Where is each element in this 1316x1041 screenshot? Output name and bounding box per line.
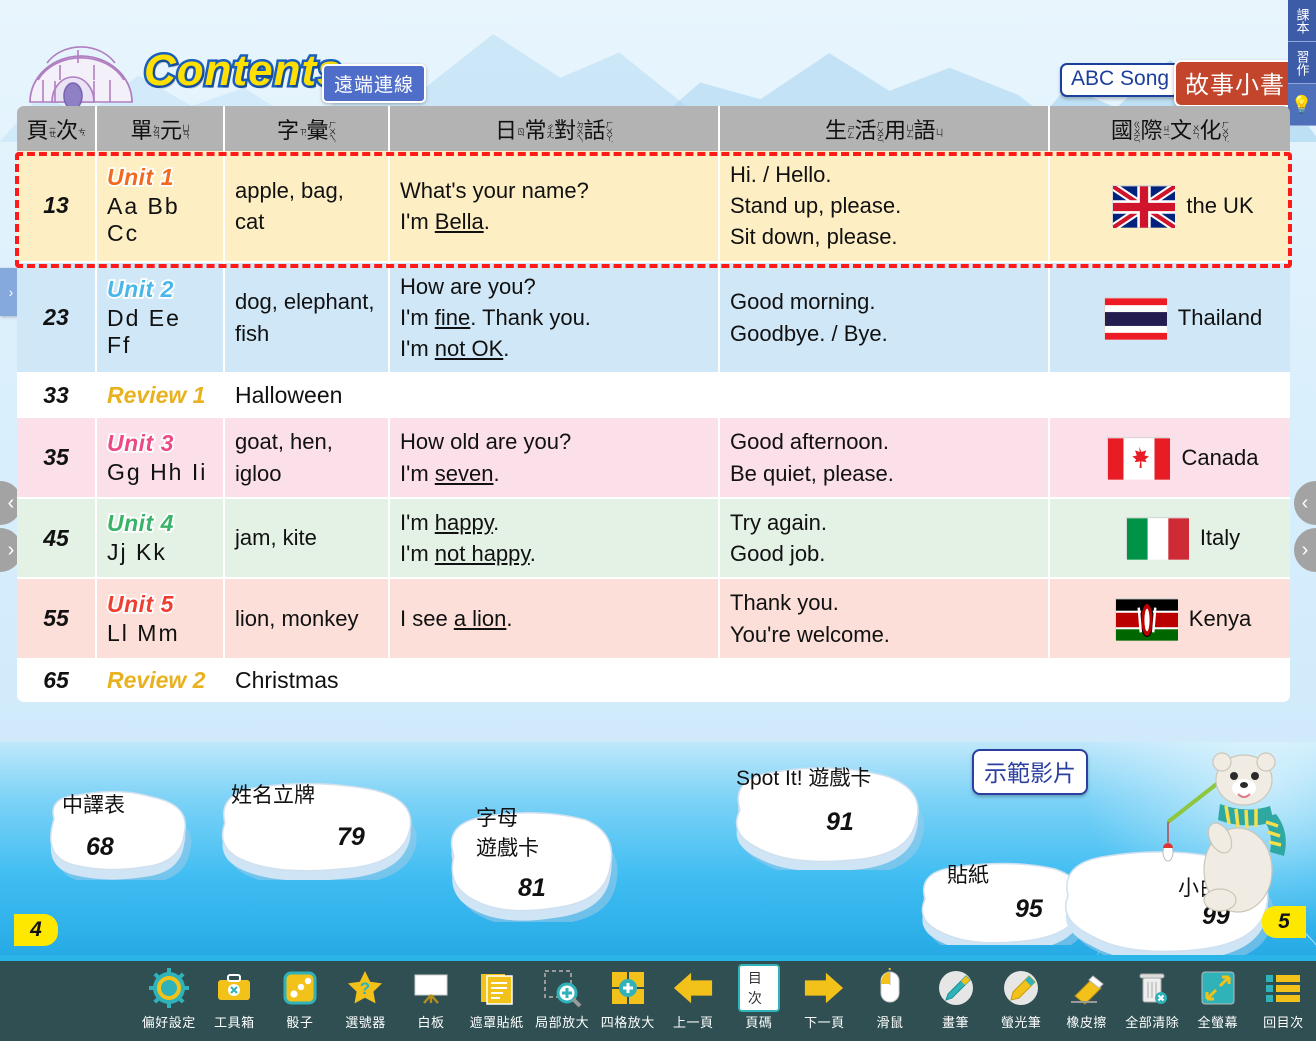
row-dialog: How are you?I'm fine. Thank you.I'm not … bbox=[390, 263, 720, 373]
table-row[interactable]: 45Unit 4Jj Kkjam, kiteI'm happy.I'm not … bbox=[17, 499, 1290, 579]
row-unit-name: Unit 4 bbox=[107, 510, 213, 537]
toolbar-button-trash[interactable]: 全部清除 bbox=[1119, 961, 1185, 1031]
toolbar-button-zoom-region[interactable]: 局部放大 bbox=[529, 961, 595, 1031]
table-row[interactable]: 55Unit 5Ll Mmlion, monkeyI see a lion.Th… bbox=[17, 579, 1290, 659]
row-page-number: 23 bbox=[17, 263, 97, 373]
row-unit-cell: Unit 2Dd Ee Ff bbox=[97, 263, 225, 373]
row-letters: Ll Mm bbox=[107, 620, 213, 647]
toolbar-label: 螢光筆 bbox=[1001, 1012, 1042, 1031]
gear-icon bbox=[148, 967, 190, 1009]
floe-label: 貼紙 bbox=[947, 859, 989, 889]
floe-page-number: 91 bbox=[826, 808, 854, 837]
toolbar-button-gear[interactable]: 偏好設定 bbox=[136, 961, 202, 1031]
ice-floe-item[interactable]: 姓名立牌79 bbox=[205, 765, 420, 880]
italy-flag bbox=[1126, 517, 1188, 559]
row-culture: Canada bbox=[1050, 418, 1290, 496]
row-country-name: Italy bbox=[1200, 522, 1240, 553]
toolbar-button-dice[interactable]: 骰子 bbox=[267, 961, 333, 1031]
toolbar-label: 滑鼠 bbox=[876, 1012, 903, 1031]
table-row[interactable]: 65Review 2Christmas bbox=[17, 660, 1290, 702]
row-unit-cell: Unit 5Ll Mm bbox=[97, 579, 225, 657]
app-root: Contents 遠端連線 ABC Song 故事小書 課本 習作 💡 › ‹ … bbox=[0, 0, 1316, 1041]
row-unit-cell: Unit 3Gg Hh Ii bbox=[97, 418, 225, 496]
row-page-number: 65 bbox=[17, 659, 97, 702]
toolbar-button-mask-sticker[interactable]: 遮罩貼紙 bbox=[464, 961, 530, 1031]
toolbar-button-star-question[interactable]: ?選號器 bbox=[333, 961, 399, 1031]
row-life-phrases: Thank you.You're welcome. bbox=[720, 579, 1050, 657]
column-header: 日ㄖˋ常ㄔㄤˊ對ㄉㄨㄟˋ話ㄏㄨㄚˋ bbox=[390, 106, 720, 151]
row-dialog: How old are you?I'm seven. bbox=[390, 418, 720, 496]
table-row[interactable]: 13Unit 1Aa Bb Ccapple, bag, catWhat's yo… bbox=[17, 151, 1290, 263]
row-vocabulary: lion, monkey bbox=[225, 579, 390, 657]
remote-connect-button[interactable]: 遠端連線 bbox=[322, 64, 426, 103]
page-badge-right: 5 bbox=[1262, 906, 1306, 938]
floe-label: Spot It! 遊戲卡 bbox=[736, 762, 871, 792]
toolbox-icon bbox=[213, 967, 255, 1009]
row-culture: Kenya bbox=[1050, 579, 1290, 657]
toolbar-label: 上一頁 bbox=[673, 1012, 714, 1031]
row-life-phrases: Good morning.Goodbye. / Bye. bbox=[720, 263, 1050, 373]
toolbar-button-arrow-right[interactable]: 下一頁 bbox=[792, 961, 858, 1031]
table-row[interactable]: 23Unit 2Dd Ee Ffdog, elephant, fishHow a… bbox=[17, 263, 1290, 375]
row-review-topic: Christmas bbox=[225, 659, 1290, 702]
floe-page-number: 68 bbox=[86, 833, 114, 862]
toolbar-button-highlighter[interactable]: 螢光筆 bbox=[988, 961, 1054, 1031]
page-title: Contents bbox=[144, 46, 343, 96]
bottom-toolbar: 偏好設定工具箱骰子?選號器白板遮罩貼紙局部放大四格放大上一頁目次頁碼下一頁滑鼠畫… bbox=[0, 961, 1316, 1041]
star-question-icon: ? bbox=[344, 967, 386, 1009]
row-life-phrases: Good afternoon.Be quiet, please. bbox=[720, 418, 1050, 496]
toolbar-button-arrow-left[interactable]: 上一頁 bbox=[661, 961, 727, 1031]
page-title-text: Contents bbox=[144, 46, 343, 95]
row-dialog: I see a lion. bbox=[390, 579, 720, 657]
kenya-flag bbox=[1115, 598, 1177, 640]
lightbulb-icon[interactable]: 💡 bbox=[1288, 84, 1316, 126]
mouse-icon bbox=[869, 967, 911, 1009]
pen-icon bbox=[935, 967, 977, 1009]
column-header: 單ㄉㄢ元ㄩㄢˊ bbox=[97, 106, 225, 151]
toolbar-button-toolbox[interactable]: 工具箱 bbox=[202, 961, 268, 1031]
row-unit-name: Review 1 bbox=[97, 374, 225, 417]
row-page-number: 35 bbox=[17, 418, 97, 496]
table-row[interactable]: 33Review 1Halloween bbox=[17, 374, 1290, 418]
row-vocabulary: jam, kite bbox=[225, 499, 390, 577]
toolbar-label: 全螢幕 bbox=[1198, 1012, 1239, 1031]
row-unit-name: Unit 2 bbox=[107, 276, 213, 303]
row-dialog: I'm happy.I'm not happy. bbox=[390, 499, 720, 577]
dice-icon bbox=[279, 967, 321, 1009]
contents-list-icon bbox=[1262, 967, 1304, 1009]
toolbar-label: 工具箱 bbox=[214, 1012, 255, 1031]
row-vocabulary: dog, elephant, fish bbox=[225, 263, 390, 373]
highlighter-icon bbox=[1000, 967, 1042, 1009]
page-number-icon: 目次 bbox=[738, 967, 780, 1009]
contents-table: 頁ㄧㄝˋ次ㄘˋ單ㄉㄢ元ㄩㄢˊ字ㄗˋ彙ㄏㄨㄟˋ日ㄖˋ常ㄔㄤˊ對ㄉㄨㄟˋ話ㄏㄨㄚˋ生… bbox=[17, 106, 1290, 702]
row-unit-cell: Unit 1Aa Bb Cc bbox=[97, 151, 225, 261]
row-country-name: Kenya bbox=[1189, 603, 1251, 634]
thailand-flag bbox=[1104, 297, 1166, 339]
floe-label: 中譯表 bbox=[62, 789, 125, 819]
fullscreen-icon bbox=[1197, 967, 1239, 1009]
abc-song-button[interactable]: ABC Song bbox=[1060, 63, 1180, 97]
row-letters: Dd Ee Ff bbox=[107, 305, 213, 359]
row-unit-name: Review 2 bbox=[97, 659, 225, 702]
column-header: 國ㄍㄨㄛˊ際ㄐㄧˋ文ㄨㄣˊ化ㄏㄨㄚˋ bbox=[1050, 106, 1290, 151]
row-unit-name: Unit 1 bbox=[107, 164, 213, 191]
column-header: 字ㄗˋ彙ㄏㄨㄟˋ bbox=[225, 106, 390, 151]
toolbar-label: 四格放大 bbox=[601, 1012, 655, 1031]
row-page-number: 45 bbox=[17, 499, 97, 577]
toolbar-label: 全部清除 bbox=[1125, 1012, 1179, 1031]
page-badge-left: 4 bbox=[14, 914, 58, 946]
toolbar-label: 畫筆 bbox=[942, 1012, 969, 1031]
ice-floe-item[interactable]: 字母遊戲卡81 bbox=[428, 792, 618, 922]
eraser-icon bbox=[1066, 967, 1108, 1009]
row-unit-name: Unit 3 bbox=[107, 430, 213, 457]
trash-icon bbox=[1131, 967, 1173, 1009]
toolbar-button-mouse[interactable]: 滑鼠 bbox=[857, 961, 923, 1031]
whiteboard-icon bbox=[410, 967, 452, 1009]
ice-floe-item[interactable]: 中譯表68 bbox=[28, 775, 193, 880]
toolbar-button-pen[interactable]: 畫筆 bbox=[923, 961, 989, 1031]
row-life-phrases: Hi. / Hello.Stand up, please.Sit down, p… bbox=[720, 151, 1050, 261]
table-header-row: 頁ㄧㄝˋ次ㄘˋ單ㄉㄢ元ㄩㄢˊ字ㄗˋ彙ㄏㄨㄟˋ日ㄖˋ常ㄔㄤˊ對ㄉㄨㄟˋ話ㄏㄨㄚˋ生… bbox=[17, 106, 1290, 151]
floe-page-number: 95 bbox=[1015, 895, 1043, 924]
zoom-region-icon bbox=[541, 967, 583, 1009]
toolbar-label: 局部放大 bbox=[535, 1012, 589, 1031]
row-country-name: the UK bbox=[1186, 190, 1253, 221]
toolbar-button-quad-zoom[interactable]: 四格放大 bbox=[595, 961, 661, 1031]
toolbar-button-fullscreen[interactable]: 全螢幕 bbox=[1185, 961, 1251, 1031]
row-letters: Aa Bb Cc bbox=[107, 193, 213, 247]
row-page-number: 13 bbox=[17, 151, 97, 261]
uk-flag bbox=[1112, 185, 1174, 227]
toolbar-button-whiteboard[interactable]: 白板 bbox=[398, 961, 464, 1031]
row-culture: Thailand bbox=[1050, 263, 1290, 373]
row-unit-cell: Unit 4Jj Kk bbox=[97, 499, 225, 577]
toolbar-button-contents-list[interactable]: 回目次 bbox=[1251, 961, 1316, 1031]
table-body: 13Unit 1Aa Bb Ccapple, bag, catWhat's yo… bbox=[17, 151, 1290, 702]
toolbar-label: 橡皮擦 bbox=[1066, 1012, 1107, 1031]
toolbar-label: 骰子 bbox=[286, 1012, 313, 1031]
row-letters: Gg Hh Ii bbox=[107, 459, 213, 486]
row-culture: Italy bbox=[1050, 499, 1290, 577]
canada-flag bbox=[1107, 437, 1169, 479]
igloo-icon bbox=[22, 18, 140, 106]
toolbar-button-page-number[interactable]: 目次頁碼 bbox=[726, 961, 792, 1031]
row-vocabulary: apple, bag, cat bbox=[225, 151, 390, 261]
toolbar-label: 頁碼 bbox=[745, 1012, 772, 1031]
row-page-number: 33 bbox=[17, 374, 97, 417]
arrow-left-icon bbox=[672, 967, 714, 1009]
polar-bear-illustration bbox=[1160, 752, 1290, 922]
row-vocabulary: goat, hen, igloo bbox=[225, 418, 390, 496]
table-row[interactable]: 35Unit 3Gg Hh Iigoat, hen, iglooHow old … bbox=[17, 418, 1290, 498]
demo-video-button[interactable]: 示範影片 bbox=[972, 749, 1088, 795]
row-country-name: Thailand bbox=[1178, 302, 1262, 333]
story-book-button[interactable]: 故事小書 bbox=[1174, 60, 1296, 107]
arrow-right-icon bbox=[803, 967, 845, 1009]
ice-floe-item[interactable]: Spot It! 遊戲卡91 bbox=[718, 750, 928, 870]
toolbar-label: 偏好設定 bbox=[142, 1012, 196, 1031]
right-sidebar: 課本 習作 💡 bbox=[1288, 0, 1316, 123]
toolbar-label: 白板 bbox=[418, 1012, 445, 1031]
toolbar-button-eraser[interactable]: 橡皮擦 bbox=[1054, 961, 1120, 1031]
svg-text:?: ? bbox=[360, 979, 370, 998]
column-header: 生ㄕㄥ活ㄏㄨㄛˊ用ㄩㄥˋ語ㄩˇ bbox=[720, 106, 1050, 151]
row-culture: the UK bbox=[1050, 151, 1290, 261]
row-unit-name: Unit 5 bbox=[107, 591, 213, 618]
floe-label: 姓名立牌 bbox=[231, 779, 315, 809]
toolbar-label: 回目次 bbox=[1263, 1012, 1304, 1031]
column-header: 頁ㄧㄝˋ次ㄘˋ bbox=[17, 106, 97, 151]
toolbar-label: 選號器 bbox=[345, 1012, 386, 1031]
row-life-phrases: Try again.Good job. bbox=[720, 499, 1050, 577]
mask-sticker-icon bbox=[476, 967, 518, 1009]
floe-page-number: 79 bbox=[337, 823, 365, 852]
row-country-name: Canada bbox=[1181, 442, 1258, 473]
floe-label: 字母遊戲卡 bbox=[476, 802, 539, 862]
row-letters: Jj Kk bbox=[107, 539, 213, 566]
quad-zoom-icon bbox=[607, 967, 649, 1009]
toolbar-label: 下一頁 bbox=[804, 1012, 845, 1031]
floe-page-number: 81 bbox=[518, 874, 546, 903]
sidebar-item-workbook[interactable]: 習作 bbox=[1288, 42, 1316, 84]
row-page-number: 55 bbox=[17, 579, 97, 657]
row-dialog: What's your name?I'm Bella. bbox=[390, 151, 720, 261]
row-review-topic: Halloween bbox=[225, 374, 1290, 417]
sidebar-item-textbook[interactable]: 課本 bbox=[1288, 0, 1316, 42]
toolbar-label: 遮罩貼紙 bbox=[470, 1012, 524, 1031]
